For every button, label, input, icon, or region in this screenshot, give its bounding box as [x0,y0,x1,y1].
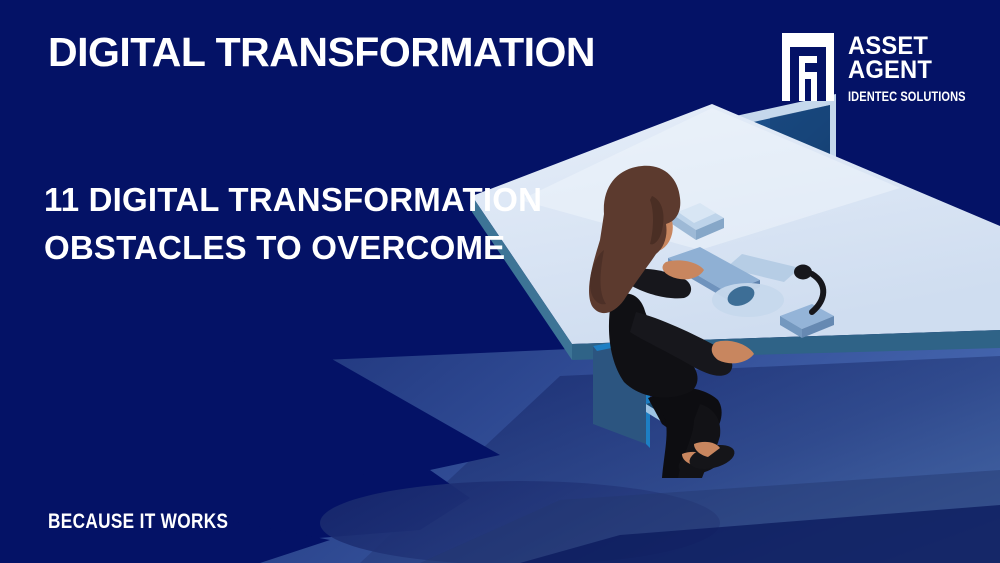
asset-agent-square-mark [782,33,834,101]
digital-transformation-banner: DIGITAL TRANSFORMATION 11 DIGITAL TRANSF… [0,0,1000,563]
logo-subtitle: IDENTEC SOLUTIONS [848,89,966,104]
lamp-head [794,265,812,280]
logo-line-1: ASSET [848,34,984,58]
asset-agent-logo[interactable]: ASSET AGENT IDENTEC SOLUTIONS [782,33,991,104]
eyebrow-title: DIGITAL TRANSFORMATION [48,30,595,75]
page-title: 11 DIGITAL TRANSFORMATION OBSTACLES TO O… [44,176,584,272]
tagline: BECAUSE IT WORKS [48,510,228,534]
logo-wordmark: ASSET AGENT IDENTEC SOLUTIONS [848,33,991,104]
logo-line-2: AGENT [848,58,984,82]
